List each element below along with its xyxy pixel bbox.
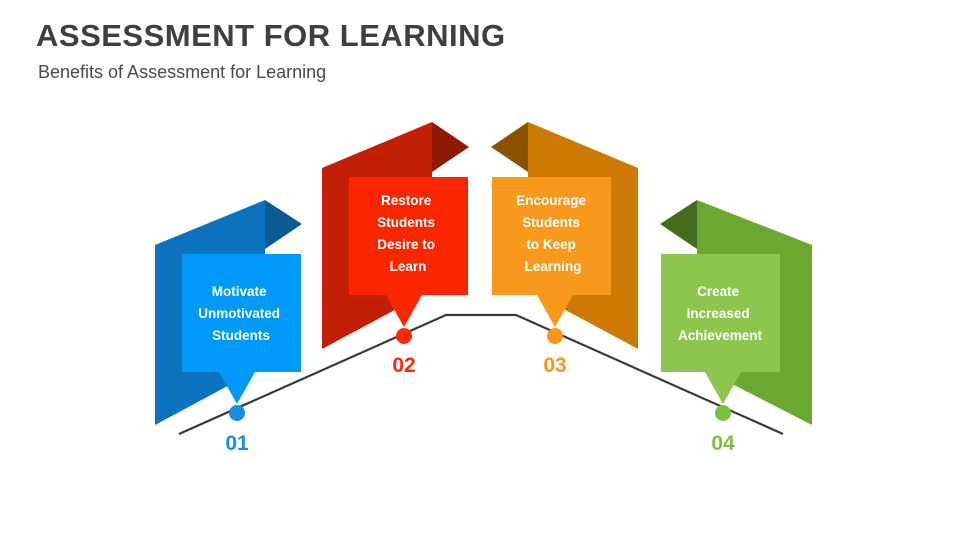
step-number-02: 02 (392, 354, 415, 377)
marker-dot-03 (547, 328, 563, 344)
callout-step-01[interactable]: Motivate Unmotivated Students (155, 200, 302, 425)
step-marker-04[interactable]: 04 (711, 405, 735, 455)
step-number-03: 03 (543, 354, 566, 377)
callout-step-04[interactable]: Create Increased Achievement (660, 200, 812, 425)
ribbon-fold-03 (491, 122, 528, 172)
marker-dot-01 (229, 405, 245, 421)
slide-canvas: ASSESSMENT FOR LEARNING Benefits of Asse… (0, 0, 960, 540)
ribbon-fold-02 (432, 122, 469, 172)
step-marker-02[interactable]: 02 (392, 328, 415, 377)
marker-dot-02 (396, 328, 412, 344)
infographic-diagram: Motivate Unmotivated Students Restore St… (0, 0, 960, 540)
ribbon-fold-04 (660, 200, 697, 249)
step-number-04: 04 (711, 432, 735, 455)
step-number-01: 01 (225, 432, 249, 455)
marker-dot-04 (715, 405, 731, 421)
ribbon-fold-01 (265, 200, 302, 249)
